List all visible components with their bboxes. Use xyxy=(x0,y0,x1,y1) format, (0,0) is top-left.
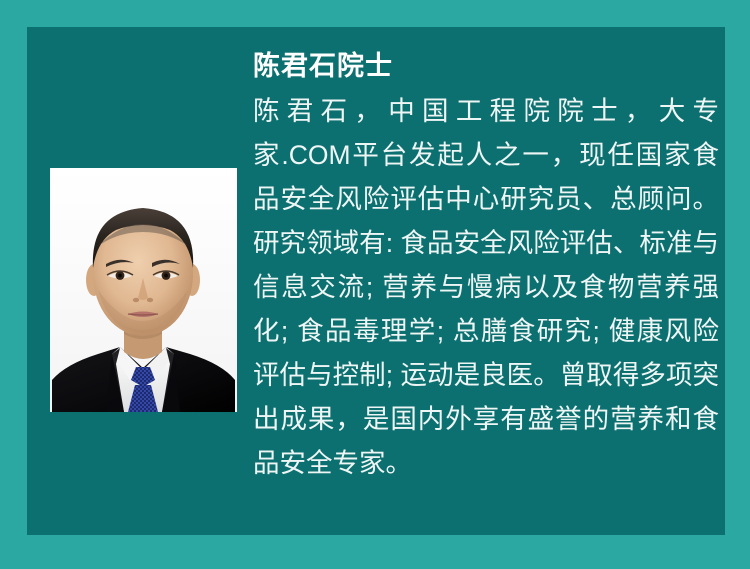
profile-text-column: 陈君石院士 陈君石，中国工程院院士，大专家.COM平台发起人之一，现任国家食品安… xyxy=(253,46,719,485)
profile-card-inner-panel: 陈君石院士 陈君石，中国工程院院士，大专家.COM平台发起人之一，现任国家食品安… xyxy=(27,27,725,535)
profile-card: 陈君石院士 陈君石，中国工程院院士，大专家.COM平台发起人之一，现任国家食品安… xyxy=(0,0,750,569)
portrait-photo xyxy=(50,168,237,412)
profile-biography: 陈君石，中国工程院院士，大专家.COM平台发起人之一，现任国家食品安全风险评估中… xyxy=(253,89,719,485)
page-title: 陈君石院士 xyxy=(253,46,719,86)
portrait-photo-frame xyxy=(50,168,237,412)
